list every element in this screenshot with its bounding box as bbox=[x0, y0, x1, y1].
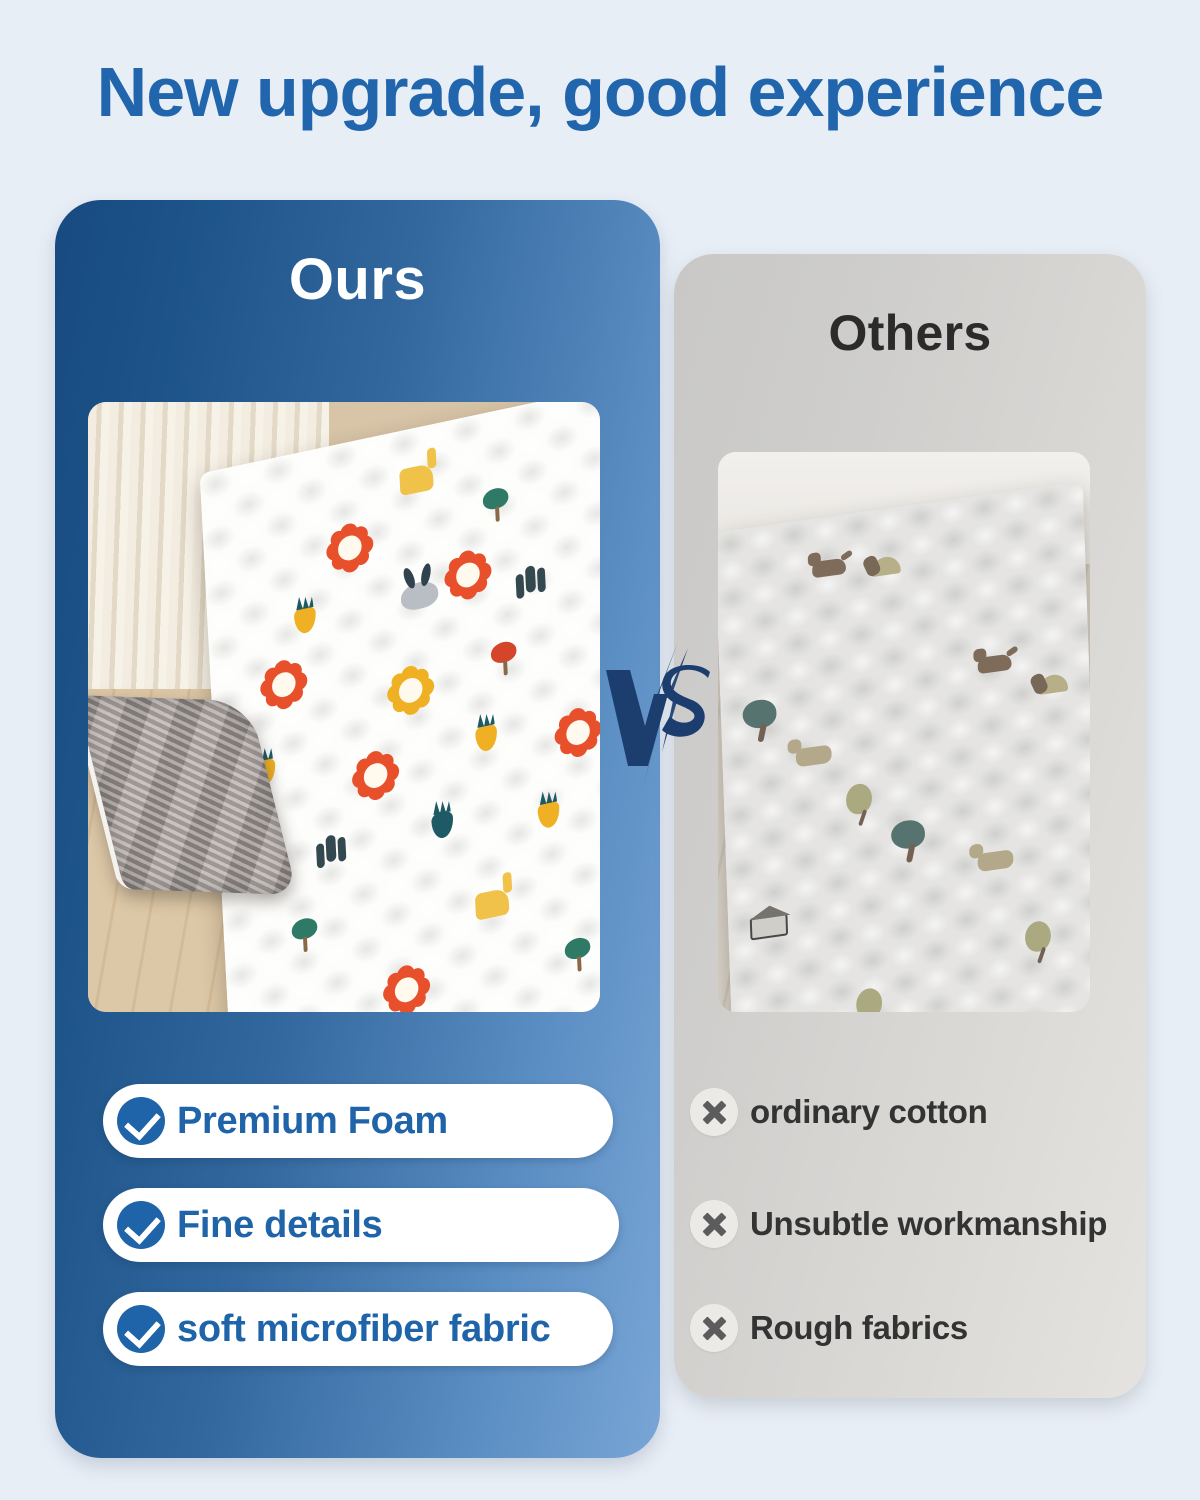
tree-motif-icon bbox=[891, 818, 926, 851]
mushroom-motif-icon bbox=[1037, 673, 1067, 695]
quilted-mat-surface bbox=[718, 481, 1090, 1012]
balloon-motif-icon bbox=[845, 782, 872, 816]
cactus-motif-icon bbox=[325, 834, 336, 862]
leaf-motif-icon bbox=[291, 916, 317, 942]
comparison-infographic: New upgrade, good experience Ours bbox=[0, 0, 1200, 1500]
ours-panel: Ours bbox=[55, 200, 660, 1458]
feature-pill-soft-microfiber-fabric[interactable]: soft microfiber fabric bbox=[103, 1292, 613, 1366]
others-panel: Others ordinary cotton bbox=[674, 254, 1146, 1398]
flower-motif-icon bbox=[452, 557, 483, 594]
carrot-motif-icon bbox=[294, 605, 317, 636]
drawback-row-unsubtle-workmanship[interactable]: Unsubtle workmanship bbox=[690, 1200, 1107, 1248]
drawback-row-ordinary-cotton[interactable]: ordinary cotton bbox=[690, 1088, 988, 1136]
cactus-motif-icon bbox=[525, 565, 536, 593]
check-circle-icon bbox=[117, 1305, 165, 1353]
quilted-mat-surface bbox=[199, 402, 600, 1012]
feature-label: Premium Foam bbox=[177, 1100, 448, 1143]
check-circle-icon bbox=[117, 1097, 165, 1145]
flower-motif-icon bbox=[395, 673, 426, 710]
ours-product-photo bbox=[88, 402, 600, 1012]
others-product-photo bbox=[718, 452, 1090, 1012]
giraffe-motif-icon bbox=[474, 888, 509, 921]
flower-motif-icon bbox=[360, 758, 391, 795]
flower-motif-icon bbox=[268, 667, 299, 704]
vs-badge bbox=[604, 634, 714, 799]
balloon-motif-icon bbox=[856, 987, 883, 1012]
drawback-label: Rough fabrics bbox=[750, 1309, 968, 1347]
carrot-motif-icon bbox=[538, 800, 561, 831]
carrot-motif-icon bbox=[431, 809, 454, 840]
x-circle-icon bbox=[690, 1200, 738, 1248]
dog-motif-icon bbox=[978, 654, 1012, 675]
leaf-motif-icon bbox=[564, 936, 590, 962]
carrot-motif-icon bbox=[475, 722, 498, 753]
balloon-motif-icon bbox=[1024, 920, 1051, 954]
flower-motif-icon bbox=[334, 530, 365, 567]
feature-label: Fine details bbox=[177, 1204, 382, 1247]
feature-label: soft microfiber fabric bbox=[177, 1308, 550, 1351]
deer-motif-icon bbox=[796, 744, 832, 767]
drawback-row-rough-fabrics[interactable]: Rough fabrics bbox=[690, 1304, 968, 1352]
ours-panel-title: Ours bbox=[55, 246, 660, 313]
drawback-label: Unsubtle workmanship bbox=[750, 1205, 1107, 1243]
deer-motif-icon bbox=[977, 849, 1013, 872]
x-circle-icon bbox=[690, 1304, 738, 1352]
x-circle-icon bbox=[690, 1088, 738, 1136]
check-circle-icon bbox=[117, 1201, 165, 1249]
bunny-motif-icon bbox=[400, 579, 439, 613]
feature-pill-premium-foam[interactable]: Premium Foam bbox=[103, 1084, 613, 1158]
mushroom-motif-icon bbox=[871, 555, 901, 577]
others-panel-title: Others bbox=[674, 304, 1146, 362]
drawback-label: ordinary cotton bbox=[750, 1093, 988, 1131]
tree-motif-icon bbox=[742, 698, 777, 731]
flower-motif-icon bbox=[562, 715, 593, 752]
feature-pill-fine-details[interactable]: Fine details bbox=[103, 1188, 619, 1262]
dog-motif-icon bbox=[811, 558, 845, 579]
giraffe-motif-icon bbox=[399, 463, 434, 496]
page-title: New upgrade, good experience bbox=[0, 52, 1200, 132]
flower-motif-icon bbox=[391, 972, 422, 1009]
house-motif-icon bbox=[750, 913, 788, 940]
leaf-motif-icon bbox=[490, 640, 516, 666]
leaf-motif-icon bbox=[482, 486, 508, 512]
